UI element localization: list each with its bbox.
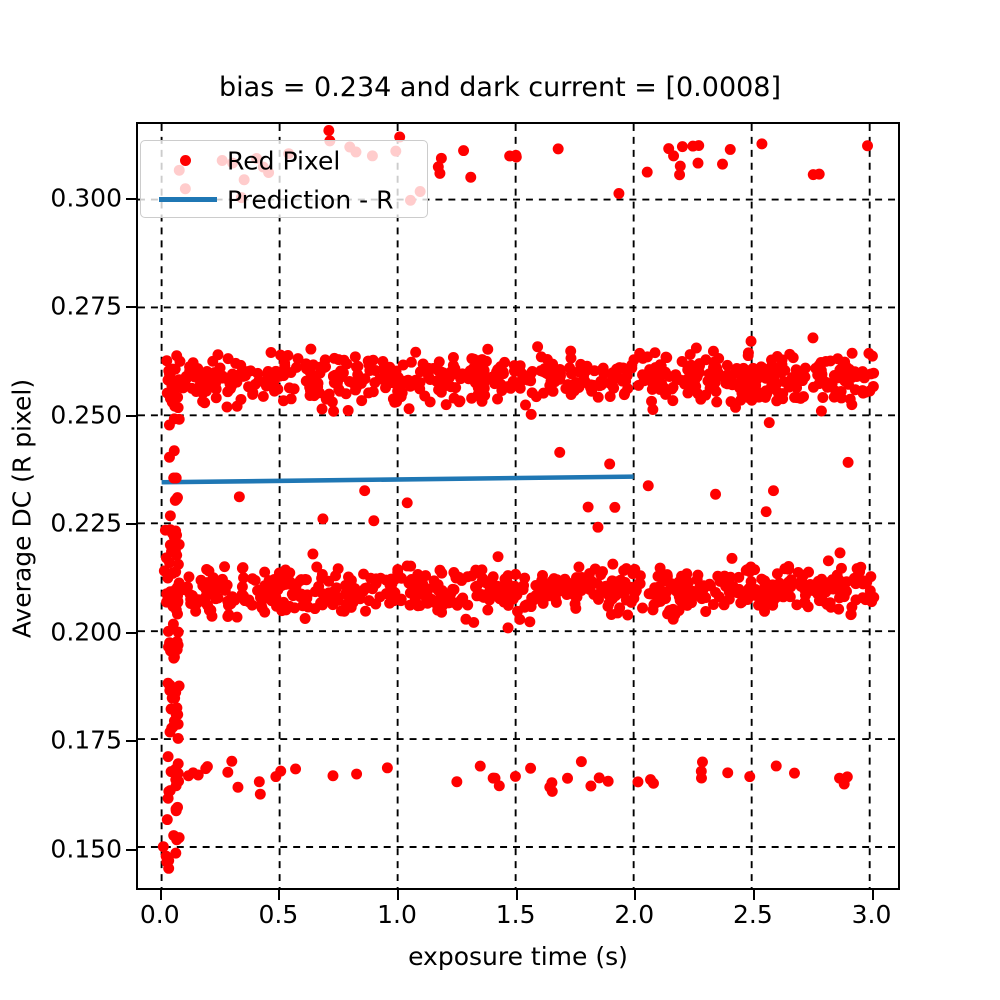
scatter-point bbox=[642, 167, 653, 178]
scatter-point bbox=[234, 491, 245, 502]
scatter-point bbox=[351, 769, 362, 780]
scatter-point bbox=[276, 580, 287, 591]
scatter-point bbox=[586, 386, 597, 397]
scatter-point bbox=[456, 595, 467, 606]
scatter-point bbox=[835, 547, 846, 558]
scatter-point bbox=[368, 515, 379, 526]
scatter-point bbox=[818, 375, 829, 386]
scatter-point bbox=[562, 773, 573, 784]
scatter-point bbox=[696, 773, 707, 784]
scatter-point bbox=[250, 575, 261, 586]
scatter-point bbox=[739, 370, 750, 381]
scatter-point bbox=[225, 383, 236, 394]
scatter-point bbox=[865, 368, 876, 379]
scatter-point bbox=[797, 375, 808, 386]
scatter-point bbox=[492, 584, 503, 595]
scatter-point bbox=[348, 597, 359, 608]
scatter-point bbox=[604, 458, 615, 469]
scatter-point bbox=[730, 402, 741, 413]
scatter-point bbox=[382, 762, 393, 773]
scatter-point bbox=[451, 573, 462, 584]
scatter-point bbox=[183, 571, 194, 582]
x-tick-mark bbox=[634, 890, 636, 900]
scatter-point bbox=[173, 627, 184, 638]
scatter-point bbox=[433, 579, 444, 590]
legend[interactable]: Red Pixel Prediction - R bbox=[140, 140, 428, 218]
scatter-point bbox=[495, 378, 506, 389]
scatter-point bbox=[320, 361, 331, 372]
scatter-point bbox=[744, 566, 755, 577]
scatter-point bbox=[238, 572, 249, 583]
scatter-point bbox=[305, 344, 316, 355]
scatter-point bbox=[717, 159, 728, 170]
y-tick-mark bbox=[126, 740, 136, 742]
scatter-point bbox=[197, 396, 208, 407]
scatter-point bbox=[422, 598, 433, 609]
legend-entry-prediction-r[interactable]: Prediction - R bbox=[141, 180, 427, 219]
scatter-point bbox=[371, 573, 382, 584]
scatter-point bbox=[779, 376, 790, 387]
scatter-point bbox=[607, 367, 618, 378]
scatter-point bbox=[159, 565, 170, 576]
scatter-point bbox=[396, 573, 407, 584]
scatter-point bbox=[275, 350, 286, 361]
scatter-point bbox=[727, 553, 738, 564]
scatter-point bbox=[436, 607, 447, 618]
scatter-point bbox=[414, 383, 425, 394]
legend-entry-red-pixel[interactable]: Red Pixel bbox=[141, 141, 427, 180]
scatter-point bbox=[637, 603, 648, 614]
scatter-point bbox=[603, 776, 614, 787]
x-tick-label: 1.5 bbox=[496, 900, 536, 929]
scatter-point bbox=[553, 143, 564, 154]
plot-area: Red Pixel Prediction - R bbox=[136, 122, 900, 890]
scatter-point bbox=[725, 144, 736, 155]
scatter-point bbox=[305, 390, 316, 401]
scatter-point bbox=[448, 352, 459, 363]
scatter-point bbox=[807, 332, 818, 343]
scatter-point bbox=[458, 145, 469, 156]
scatter-point bbox=[537, 570, 548, 581]
scatter-point bbox=[639, 375, 650, 386]
scatter-point bbox=[338, 367, 349, 378]
scatter-point bbox=[439, 381, 450, 392]
scatter-point bbox=[358, 569, 369, 580]
scatter-point bbox=[576, 756, 587, 767]
scatter-point bbox=[493, 551, 504, 562]
y-tick-label: 0.250 bbox=[50, 400, 122, 429]
scatter-point bbox=[356, 395, 367, 406]
scatter-point bbox=[850, 384, 861, 395]
scatter-point bbox=[170, 774, 181, 785]
scatter-point bbox=[434, 168, 445, 179]
scatter-point bbox=[692, 570, 703, 581]
scatter-point bbox=[814, 169, 825, 180]
scatter-point bbox=[514, 614, 525, 625]
scatter-point bbox=[223, 600, 234, 611]
scatter-point bbox=[621, 563, 632, 574]
scatter-point bbox=[795, 393, 806, 404]
scatter-point bbox=[623, 582, 634, 593]
scatter-point bbox=[441, 399, 452, 410]
scatter-point bbox=[223, 609, 234, 620]
scatter-point bbox=[710, 489, 721, 500]
scatter-point bbox=[710, 587, 721, 598]
scatter-point bbox=[226, 756, 237, 767]
scatter-point bbox=[776, 359, 787, 370]
scatter-point bbox=[171, 350, 182, 361]
scatter-point bbox=[637, 353, 648, 364]
scatter-point bbox=[498, 596, 509, 607]
scatter-point bbox=[622, 383, 633, 394]
scatter-point bbox=[697, 757, 708, 768]
scatter-point bbox=[687, 141, 698, 152]
scatter-point bbox=[503, 622, 514, 633]
scatter-point bbox=[404, 403, 415, 414]
scatter-point bbox=[613, 188, 624, 199]
scatter-point bbox=[849, 573, 860, 584]
scatter-point bbox=[862, 140, 873, 151]
scatter-point bbox=[845, 394, 856, 405]
scatter-point bbox=[465, 172, 476, 183]
scatter-point bbox=[170, 687, 181, 698]
scatter-point bbox=[531, 391, 542, 402]
scatter-point bbox=[569, 590, 580, 601]
scatter-point bbox=[202, 368, 213, 379]
scatter-point bbox=[328, 586, 339, 597]
scatter-point bbox=[681, 576, 692, 587]
scatter-point bbox=[317, 404, 328, 415]
scatter-point bbox=[165, 586, 176, 597]
scatter-point bbox=[477, 575, 488, 586]
scatter-point bbox=[488, 571, 499, 582]
scatter-point bbox=[788, 352, 799, 363]
legend-line-icon bbox=[155, 180, 217, 219]
scatter-point bbox=[808, 382, 819, 393]
scatter-point bbox=[532, 341, 543, 352]
scatter-point bbox=[488, 773, 499, 784]
scatter-point bbox=[551, 597, 562, 608]
scatter-point bbox=[614, 602, 625, 613]
scatter-point bbox=[399, 376, 410, 387]
scatter-point bbox=[654, 593, 665, 604]
scatter-point bbox=[660, 389, 671, 400]
scatter-point bbox=[173, 758, 184, 769]
scatter-point bbox=[188, 357, 199, 368]
scatter-point bbox=[236, 394, 247, 405]
scatter-point bbox=[163, 863, 174, 874]
scatter-point bbox=[266, 347, 277, 358]
scatter-point bbox=[573, 382, 584, 393]
scatter-point bbox=[777, 393, 788, 404]
x-tick-mark bbox=[516, 890, 518, 900]
scatter-point bbox=[595, 376, 606, 387]
scatter-point bbox=[455, 373, 466, 384]
scatter-point bbox=[682, 387, 693, 398]
y-tick-label: 0.275 bbox=[50, 292, 122, 321]
scatter-point bbox=[269, 594, 280, 605]
scatter-point bbox=[167, 598, 178, 609]
scatter-point bbox=[554, 364, 565, 375]
scatter-point bbox=[307, 548, 318, 559]
scatter-point bbox=[724, 586, 735, 597]
x-tick-label: 3.0 bbox=[852, 900, 892, 929]
scatter-point bbox=[162, 814, 173, 825]
scatter-point bbox=[686, 597, 697, 608]
scatter-point bbox=[862, 592, 873, 603]
scatter-point bbox=[161, 355, 172, 366]
scatter-point bbox=[764, 417, 775, 428]
scatter-point bbox=[651, 374, 662, 385]
scatter-point bbox=[583, 502, 594, 513]
scatter-point bbox=[211, 392, 222, 403]
x-tick-mark bbox=[278, 890, 280, 900]
scatter-point bbox=[609, 502, 620, 513]
scatter-point bbox=[536, 584, 547, 595]
scatter-point bbox=[475, 761, 486, 772]
scatter-point bbox=[668, 150, 679, 161]
scatter-point bbox=[336, 605, 347, 616]
legend-label-red-pixel: Red Pixel bbox=[227, 146, 340, 175]
y-tick-label: 0.150 bbox=[50, 834, 122, 863]
scatter-point bbox=[163, 751, 174, 762]
scatter-point bbox=[554, 447, 565, 458]
scatter-point bbox=[274, 568, 285, 579]
scatter-point bbox=[539, 363, 550, 374]
x-tick-mark bbox=[753, 890, 755, 900]
x-tick-mark bbox=[872, 890, 874, 900]
scatter-point bbox=[341, 388, 352, 399]
scatter-point bbox=[286, 393, 297, 404]
scatter-point bbox=[158, 841, 169, 852]
scatter-point bbox=[722, 767, 733, 778]
y-tick-label: 0.175 bbox=[50, 726, 122, 755]
scatter-point bbox=[167, 397, 178, 408]
scatter-point bbox=[163, 786, 174, 797]
scatter-point bbox=[170, 848, 181, 859]
scatter-point bbox=[172, 644, 183, 655]
scatter-point bbox=[480, 374, 491, 385]
x-axis-label: exposure time (s) bbox=[136, 942, 900, 971]
scatter-point bbox=[749, 590, 760, 601]
scatter-point bbox=[644, 588, 655, 599]
scatter-point bbox=[359, 584, 370, 595]
scatter-point bbox=[232, 782, 243, 793]
scatter-point bbox=[845, 370, 856, 381]
scatter-point bbox=[255, 789, 266, 800]
scatter-point bbox=[820, 356, 831, 367]
x-tick-label: 2.0 bbox=[614, 900, 654, 929]
scatter-point bbox=[202, 761, 213, 772]
scatter-point bbox=[816, 406, 827, 417]
scatter-point bbox=[374, 374, 385, 385]
scatter-point bbox=[247, 389, 258, 400]
y-tick-mark bbox=[126, 849, 136, 851]
scatter-point bbox=[525, 763, 536, 774]
scatter-point bbox=[632, 776, 643, 787]
y-tick-mark bbox=[126, 306, 136, 308]
scatter-point bbox=[222, 402, 233, 413]
scatter-point bbox=[755, 388, 766, 399]
scatter-point bbox=[368, 386, 379, 397]
scatter-point bbox=[346, 575, 357, 586]
x-tick-label: 0.0 bbox=[140, 900, 180, 929]
scatter-point bbox=[381, 575, 392, 586]
scatter-point bbox=[191, 386, 202, 397]
scatter-point bbox=[451, 776, 462, 787]
x-tick-label: 0.5 bbox=[258, 900, 298, 929]
scatter-point bbox=[219, 561, 230, 572]
x-tick-mark bbox=[397, 890, 399, 900]
scatter-point bbox=[688, 369, 699, 380]
scatter-point bbox=[237, 589, 248, 600]
scatter-point bbox=[289, 602, 300, 613]
scatter-point bbox=[482, 344, 493, 355]
scatter-point bbox=[384, 598, 395, 609]
scatter-point bbox=[725, 572, 736, 583]
scatter-point bbox=[592, 522, 603, 533]
scatter-point bbox=[328, 406, 339, 417]
scatter-point bbox=[323, 125, 334, 136]
scatter-point bbox=[524, 616, 535, 627]
matplotlib-figure: bias = 0.234 and dark current = [0.0008]… bbox=[0, 0, 1000, 1000]
y-tick-label: 0.225 bbox=[50, 509, 122, 538]
scatter-point bbox=[514, 363, 525, 374]
legend-marker-icon bbox=[155, 141, 217, 180]
scatter-point bbox=[293, 353, 304, 364]
scatter-point bbox=[262, 380, 273, 391]
scatter-point bbox=[172, 802, 183, 813]
scatter-point bbox=[333, 563, 344, 574]
scatter-point bbox=[170, 495, 181, 506]
scatter-point bbox=[711, 396, 722, 407]
scatter-point bbox=[163, 626, 174, 637]
scatter-point bbox=[708, 362, 719, 373]
scatter-point bbox=[659, 576, 670, 587]
scatter-point bbox=[473, 389, 484, 400]
scatter-point bbox=[169, 716, 180, 727]
scatter-point bbox=[863, 348, 874, 359]
scatter-point bbox=[288, 590, 299, 601]
scatter-point bbox=[520, 399, 531, 410]
scatter-point bbox=[201, 564, 212, 575]
scatter-point bbox=[597, 365, 608, 376]
scatter-point bbox=[595, 569, 606, 580]
scatter-point bbox=[327, 397, 338, 408]
y-tick-mark bbox=[126, 198, 136, 200]
y-tick-label: 0.300 bbox=[50, 183, 122, 212]
scatter-point bbox=[462, 571, 473, 582]
scatter-point bbox=[343, 405, 354, 416]
scatter-point bbox=[783, 561, 794, 572]
scatter-point bbox=[573, 562, 584, 573]
scatter-point bbox=[295, 575, 306, 586]
scatter-point bbox=[270, 771, 281, 782]
scatter-point bbox=[164, 420, 175, 431]
scatter-point bbox=[823, 555, 834, 566]
y-tick-mark bbox=[126, 415, 136, 417]
scatter-point bbox=[164, 369, 175, 380]
scatter-point bbox=[410, 347, 421, 358]
scatter-point bbox=[302, 589, 313, 600]
scatter-point bbox=[771, 760, 782, 771]
scatter-point bbox=[693, 158, 704, 169]
scatter-point bbox=[223, 353, 234, 364]
scatter-point bbox=[817, 595, 828, 606]
scatter-point bbox=[842, 771, 853, 782]
scatter-point bbox=[164, 452, 175, 463]
scatter-point bbox=[193, 594, 204, 605]
scatter-point bbox=[258, 391, 269, 402]
scatter-point bbox=[317, 588, 328, 599]
scatter-point bbox=[317, 513, 328, 524]
scatter-point bbox=[803, 567, 814, 578]
scatter-point bbox=[387, 369, 398, 380]
scatter-point bbox=[768, 485, 779, 496]
scatter-point bbox=[423, 363, 434, 374]
x-tick-mark bbox=[160, 890, 162, 900]
scatter-point bbox=[474, 355, 485, 366]
scatter-point bbox=[395, 595, 406, 606]
scatter-point bbox=[607, 381, 618, 392]
scatter-point bbox=[581, 582, 592, 593]
scatter-point bbox=[645, 774, 656, 785]
scatter-point bbox=[242, 366, 253, 377]
scatter-point bbox=[845, 609, 856, 620]
scatter-point bbox=[171, 472, 182, 483]
scatter-point bbox=[743, 350, 754, 361]
scatter-point bbox=[700, 390, 711, 401]
scatter-point bbox=[491, 366, 502, 377]
scatter-point bbox=[785, 581, 796, 592]
scatter-point bbox=[350, 351, 361, 362]
scatter-point bbox=[405, 561, 416, 572]
scatter-point bbox=[566, 353, 577, 364]
scatter-point bbox=[174, 539, 185, 550]
scatter-point bbox=[204, 605, 215, 616]
scatter-point bbox=[391, 395, 402, 406]
scatter-point bbox=[759, 606, 770, 617]
scatter-point bbox=[808, 584, 819, 595]
scatter-point bbox=[222, 767, 233, 778]
scatter-point bbox=[711, 386, 722, 397]
scatter-point bbox=[359, 485, 370, 496]
scatter-point bbox=[370, 599, 381, 610]
scatter-point bbox=[547, 786, 558, 797]
scatter-point bbox=[402, 497, 413, 508]
scatter-point bbox=[377, 356, 388, 367]
scatter-point bbox=[749, 374, 760, 385]
scatter-point bbox=[525, 375, 536, 386]
scatter-point bbox=[193, 770, 204, 781]
scatter-point bbox=[817, 392, 828, 403]
scatter-point bbox=[756, 138, 767, 149]
scatter-point bbox=[675, 592, 686, 603]
scatter-point bbox=[761, 506, 772, 517]
scatter-point bbox=[174, 374, 185, 385]
scatter-point bbox=[756, 363, 767, 374]
scatter-point bbox=[746, 336, 757, 347]
scatter-point bbox=[843, 457, 854, 468]
scatter-point bbox=[607, 559, 618, 570]
scatter-point bbox=[165, 510, 176, 521]
scatter-point bbox=[519, 573, 530, 584]
scatter-point bbox=[328, 770, 339, 781]
page-title: bias = 0.234 and dark current = [0.0008] bbox=[0, 72, 1000, 103]
scatter-point bbox=[592, 592, 603, 603]
scatter-point bbox=[317, 599, 328, 610]
scatter-point bbox=[585, 781, 596, 792]
